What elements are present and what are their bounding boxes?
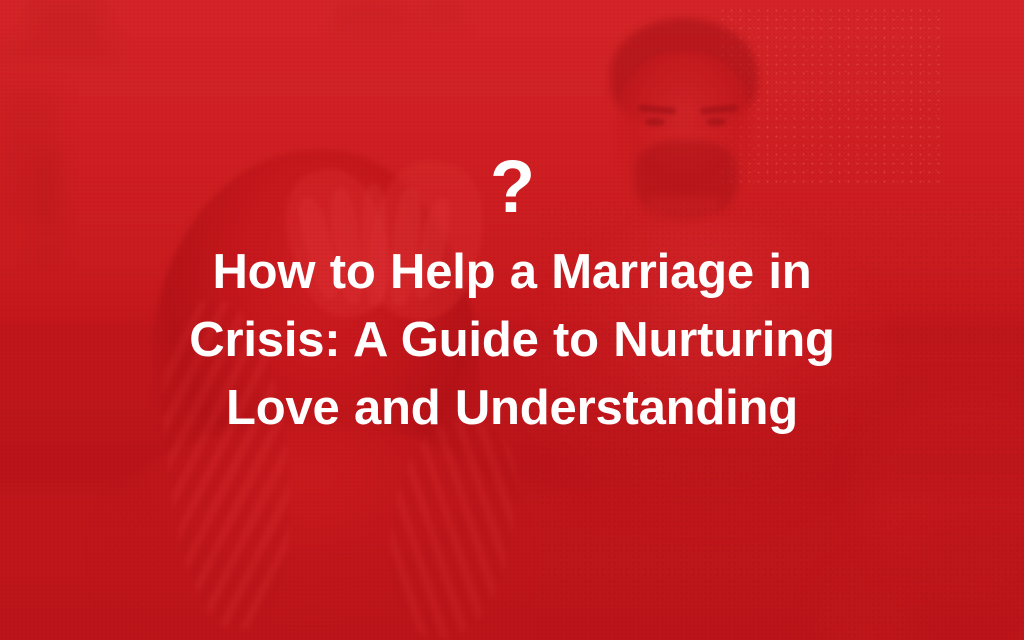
article-hero-banner: ? How to Help a Marriage in Crisis: A Gu… (0, 0, 1024, 640)
hero-content: ? How to Help a Marriage in Crisis: A Gu… (0, 0, 1024, 640)
page-title: How to Help a Marriage in Crisis: A Guid… (167, 238, 857, 442)
question-mark-icon: ? (490, 150, 534, 224)
